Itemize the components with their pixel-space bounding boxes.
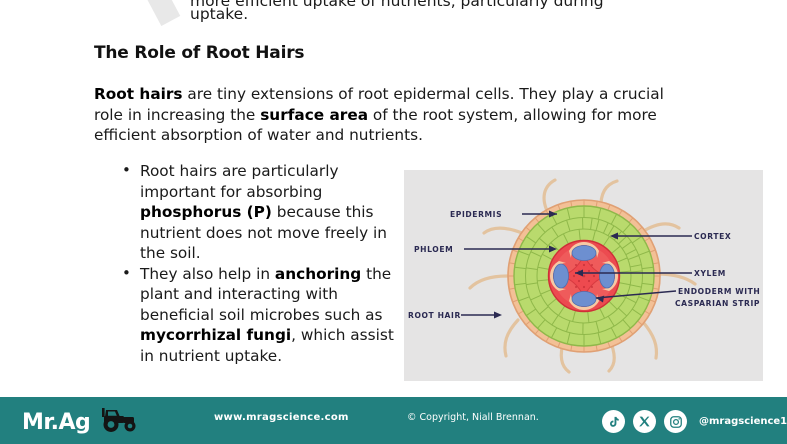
bullet-2-bold-mycorrhizal: mycorrhizal fungi bbox=[140, 326, 291, 344]
instagram-icon[interactable] bbox=[664, 410, 687, 433]
label-endoderm-line1: ENDODERM WITH bbox=[678, 287, 760, 296]
social-links: @mragscience1 bbox=[602, 410, 787, 433]
bullet-2-bold-anchoring: anchoring bbox=[275, 265, 361, 283]
list-item: They also help in anchoring the plant an… bbox=[140, 264, 408, 367]
document-content: more efficient uptake of nutrients, part… bbox=[0, 0, 787, 397]
bullet-2-text-1: They also help in bbox=[140, 265, 275, 283]
tractor-icon bbox=[98, 406, 140, 438]
label-root-hair: ROOT HAIR bbox=[408, 311, 461, 320]
label-phloem: PHLOEM bbox=[414, 245, 453, 254]
paragraph-bold-root-hairs: Root hairs bbox=[94, 85, 183, 103]
section-heading: The Role of Root Hairs bbox=[94, 43, 304, 63]
bullet-list: Root hairs are particularly important fo… bbox=[118, 161, 408, 366]
intro-paragraph: Root hairs are tiny extensions of root e… bbox=[94, 84, 690, 146]
page-root: Mr.Ag more efficient uptake of nutrients… bbox=[0, 0, 787, 444]
paragraph-bold-surface-area: surface area bbox=[260, 106, 368, 124]
footer-website-url[interactable]: www.mragscience.com bbox=[214, 412, 349, 423]
uptake-text: uptake. bbox=[190, 4, 248, 24]
x-twitter-icon[interactable] bbox=[633, 410, 656, 433]
list-item: Root hairs are particularly important fo… bbox=[140, 161, 408, 264]
label-xylem: XYLEM bbox=[694, 269, 726, 278]
brand-name: Mr.Ag bbox=[22, 410, 90, 435]
brand-block[interactable]: Mr.Ag bbox=[22, 406, 140, 438]
bullet-1-text-1: Root hairs are particularly important fo… bbox=[140, 162, 339, 201]
tiktok-icon[interactable] bbox=[602, 410, 625, 433]
root-cross-section-figure: EPIDERMIS PHLOEM ROOT HAIR CORTEX XYLEM … bbox=[404, 170, 763, 381]
bullet-1-bold-phosphorus: phosphorus (P) bbox=[140, 203, 272, 221]
social-handle: @mragscience1 bbox=[699, 416, 787, 427]
label-cortex: CORTEX bbox=[694, 232, 731, 241]
label-epidermis: EPIDERMIS bbox=[450, 210, 502, 219]
label-endoderm-line2: CASPARIAN STRIP bbox=[675, 299, 760, 308]
footer-copyright: © Copyright, Niall Brennan. bbox=[407, 412, 539, 423]
clipped-top-text: more efficient uptake of nutrients, part… bbox=[190, 0, 710, 11]
